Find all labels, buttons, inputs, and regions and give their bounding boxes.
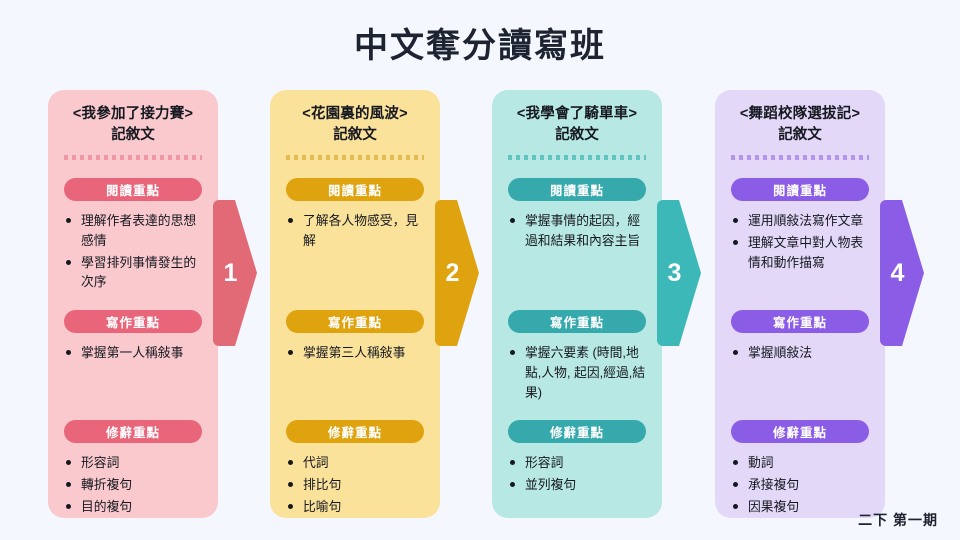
rhetoric-bullet-list: 形容詞 轉折複句 目的複句	[64, 453, 208, 516]
lesson-card-2[interactable]: <花園裏的風波> 記敘文 閱讀重點 了解各人物感受，見解 寫作重點 掌握第三人稱…	[270, 90, 440, 518]
reading-bullet-list: 理解作者表達的思想感情 學習排列事情發生的次序	[64, 211, 208, 292]
reading-section: 閱讀重點 運用順敍法寫作文章 理解文章中對人物表情和動作描寫	[725, 178, 875, 274]
reading-section: 閱讀重點 理解作者表達的思想感情 學習排列事情發生的次序	[58, 178, 208, 294]
step-arrow-3: 3	[657, 200, 701, 346]
rhetoric-section: 修辭重點 動詞 承接複句 因果複句	[725, 420, 875, 518]
dotted-divider-icon	[286, 155, 424, 160]
rhetoric-badge: 修辭重點	[286, 420, 424, 443]
card-subtitle: 記敘文	[502, 125, 652, 146]
rhetoric-section: 修辭重點 形容詞 並列複句	[502, 420, 652, 497]
rhetoric-bullet-list: 代詞 排比句 比喻句	[286, 453, 430, 516]
step-number: 3	[657, 200, 701, 346]
writing-section: 寫作重點 掌握第三人稱敍事	[280, 310, 430, 365]
list-item: 代詞	[286, 453, 430, 473]
reading-badge: 閱讀重點	[64, 178, 202, 201]
writing-badge: 寫作重點	[731, 310, 869, 333]
reading-section: 閱讀重點 了解各人物感受，見解	[280, 178, 430, 253]
card-subtitle: 記敘文	[725, 125, 875, 146]
list-item: 目的複句	[64, 497, 208, 517]
list-item: 轉折複句	[64, 475, 208, 495]
dotted-divider-icon	[731, 155, 869, 160]
list-item: 掌握順敍法	[731, 343, 875, 363]
writing-bullet-list: 掌握第一人稱敍事	[64, 343, 208, 363]
list-item: 形容詞	[64, 453, 208, 473]
card-subtitle: 記敘文	[58, 125, 208, 146]
list-item: 了解各人物感受，見解	[286, 211, 430, 251]
list-item: 比喻句	[286, 497, 430, 517]
card-title: <花園裏的風波>	[280, 104, 430, 124]
list-item: 學習排列事情發生的次序	[64, 253, 208, 293]
lesson-card-4[interactable]: <舞蹈校隊選拔記> 記敘文 閱讀重點 運用順敍法寫作文章 理解文章中對人物表情和…	[715, 90, 885, 518]
list-item: 並列複句	[508, 475, 652, 495]
list-item: 掌握事情的起因，經過和結果和內容主旨	[508, 211, 652, 251]
step-number: 1	[213, 200, 257, 346]
writing-bullet-list: 掌握六要素 (時間,地點,人物, 起因,經過,結果)	[508, 343, 652, 402]
reading-badge: 閱讀重點	[731, 178, 869, 201]
card-title: <舞蹈校隊選拔記>	[725, 104, 875, 124]
card-title: <我參加了接力賽>	[58, 104, 208, 124]
reading-badge: 閱讀重點	[508, 178, 646, 201]
lesson-card-3[interactable]: <我學會了騎單車> 記敘文 閱讀重點 掌握事情的起因，經過和結果和內容主旨 寫作…	[492, 90, 662, 518]
reading-badge: 閱讀重點	[286, 178, 424, 201]
writing-badge: 寫作重點	[286, 310, 424, 333]
dotted-divider-icon	[64, 155, 202, 160]
slide-canvas: 中文奪分讀寫班 <我參加了接力賽> 記敘文 閱讀重點 理解作者表達的思想感情 學…	[0, 0, 960, 540]
reading-bullet-list: 運用順敍法寫作文章 理解文章中對人物表情和動作描寫	[731, 211, 875, 272]
step-number: 2	[435, 200, 479, 346]
reading-section: 閱讀重點 掌握事情的起因，經過和結果和內容主旨	[502, 178, 652, 253]
list-item: 掌握第三人稱敍事	[286, 343, 430, 363]
list-item: 動詞	[731, 453, 875, 473]
step-arrow-4: 4	[880, 200, 924, 346]
rhetoric-section: 修辭重點 形容詞 轉折複句 目的複句	[58, 420, 208, 518]
rhetoric-badge: 修辭重點	[731, 420, 869, 443]
list-item: 因果複句	[731, 497, 875, 517]
list-item: 理解文章中對人物表情和動作描寫	[731, 233, 875, 273]
list-item: 運用順敍法寫作文章	[731, 211, 875, 231]
list-item: 理解作者表達的思想感情	[64, 211, 208, 251]
rhetoric-badge: 修辭重點	[508, 420, 646, 443]
list-item: 形容詞	[508, 453, 652, 473]
writing-section: 寫作重點 掌握順敍法	[725, 310, 875, 365]
reading-bullet-list: 了解各人物感受，見解	[286, 211, 430, 251]
step-arrow-2: 2	[435, 200, 479, 346]
step-arrow-1: 1	[213, 200, 257, 346]
list-item: 掌握第一人稱敍事	[64, 343, 208, 363]
card-title: <我學會了騎單車>	[502, 104, 652, 124]
writing-bullet-list: 掌握順敍法	[731, 343, 875, 363]
list-item: 承接複句	[731, 475, 875, 495]
writing-bullet-list: 掌握第三人稱敍事	[286, 343, 430, 363]
card-subtitle: 記敘文	[280, 125, 430, 146]
dotted-divider-icon	[508, 155, 646, 160]
writing-badge: 寫作重點	[508, 310, 646, 333]
rhetoric-bullet-list: 動詞 承接複句 因果複句	[731, 453, 875, 516]
rhetoric-section: 修辭重點 代詞 排比句 比喻句	[280, 420, 430, 518]
list-item: 排比句	[286, 475, 430, 495]
page-title: 中文奪分讀寫班	[0, 18, 960, 67]
writing-badge: 寫作重點	[64, 310, 202, 333]
term-label: 二下 第一期	[858, 510, 938, 530]
lesson-card-1[interactable]: <我參加了接力賽> 記敘文 閱讀重點 理解作者表達的思想感情 學習排列事情發生的…	[48, 90, 218, 518]
step-number: 4	[880, 200, 924, 346]
rhetoric-bullet-list: 形容詞 並列複句	[508, 453, 652, 495]
list-item: 掌握六要素 (時間,地點,人物, 起因,經過,結果)	[508, 343, 652, 402]
writing-section: 寫作重點 掌握第一人稱敍事	[58, 310, 208, 365]
writing-section: 寫作重點 掌握六要素 (時間,地點,人物, 起因,經過,結果)	[502, 310, 652, 404]
rhetoric-badge: 修辭重點	[64, 420, 202, 443]
reading-bullet-list: 掌握事情的起因，經過和結果和內容主旨	[508, 211, 652, 251]
